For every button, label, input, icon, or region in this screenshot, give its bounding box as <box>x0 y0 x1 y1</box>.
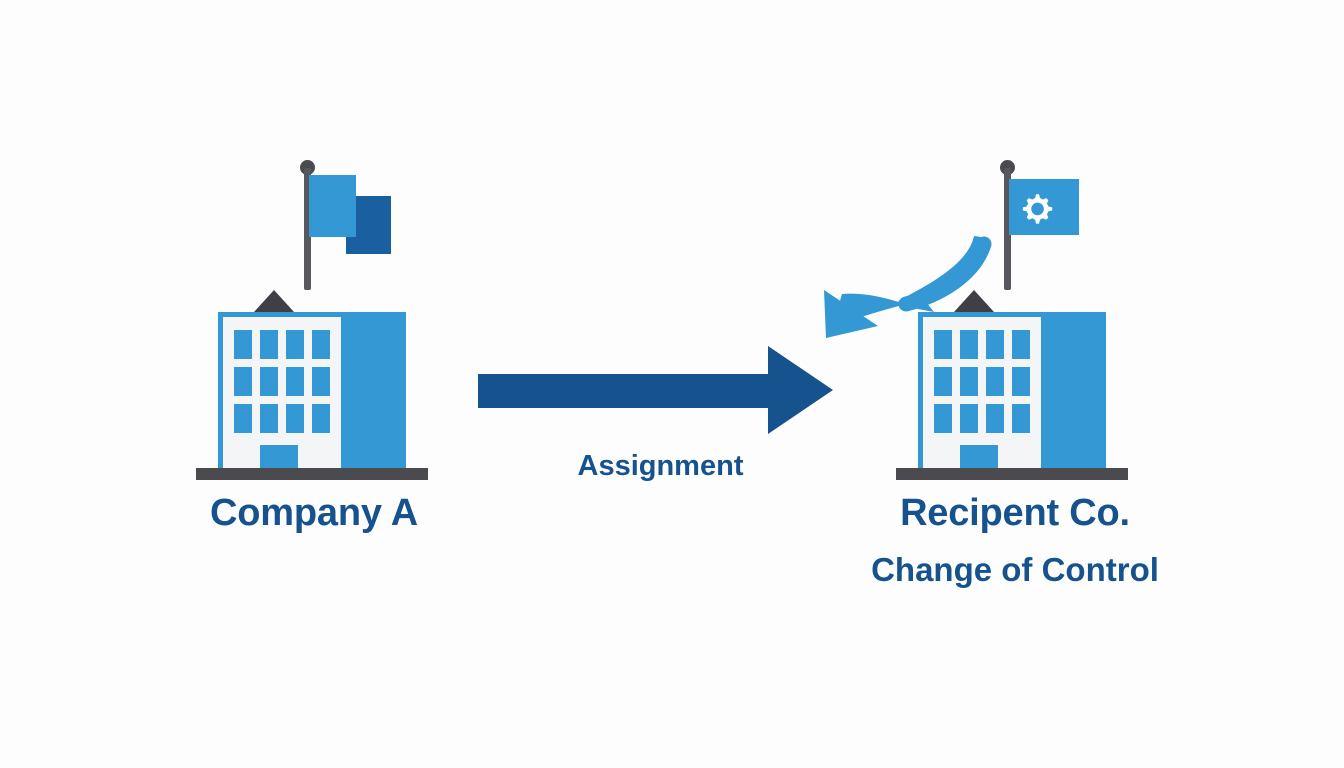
building-window <box>234 367 252 396</box>
building-window <box>312 404 330 433</box>
entity-company-a[interactable] <box>196 160 446 475</box>
building-side-block <box>344 312 406 468</box>
entity-sublabel-change-of-control: Change of Control <box>845 551 1185 589</box>
building-window <box>1012 330 1030 359</box>
flag-panel-light <box>309 175 356 237</box>
building-window <box>934 367 952 396</box>
building-window <box>260 404 278 433</box>
building-window <box>960 404 978 433</box>
entity-label-company-a: Company A <box>196 492 432 535</box>
building-window <box>260 367 278 396</box>
building-window <box>234 404 252 433</box>
building-window <box>286 330 304 359</box>
flag-two-tone <box>196 160 446 290</box>
building-window <box>312 367 330 396</box>
building-base <box>196 468 428 480</box>
building-window <box>986 367 1004 396</box>
building-window <box>986 404 1004 433</box>
building-window <box>934 404 952 433</box>
building-side-block <box>1044 312 1106 468</box>
diagram-canvas: Assignment Company A Recipent Co. Change… <box>0 0 1344 768</box>
entity-label-recipent-co: Recipent Co. <box>870 492 1160 535</box>
building-roof-icon <box>254 290 294 312</box>
building-window <box>234 330 252 359</box>
assignment-arrow <box>478 346 838 436</box>
building-window-grid <box>234 330 330 433</box>
building-window <box>1012 367 1030 396</box>
building-window <box>312 330 330 359</box>
building-company-a <box>196 290 446 475</box>
building-window <box>960 367 978 396</box>
building-window <box>1012 404 1030 433</box>
gear-icon <box>1018 190 1054 226</box>
building-window <box>286 404 304 433</box>
building-window <box>260 330 278 359</box>
building-window <box>286 367 304 396</box>
assignment-label: Assignment <box>533 450 788 483</box>
building-base <box>896 468 1128 480</box>
change-of-control-arrow <box>806 228 1006 353</box>
